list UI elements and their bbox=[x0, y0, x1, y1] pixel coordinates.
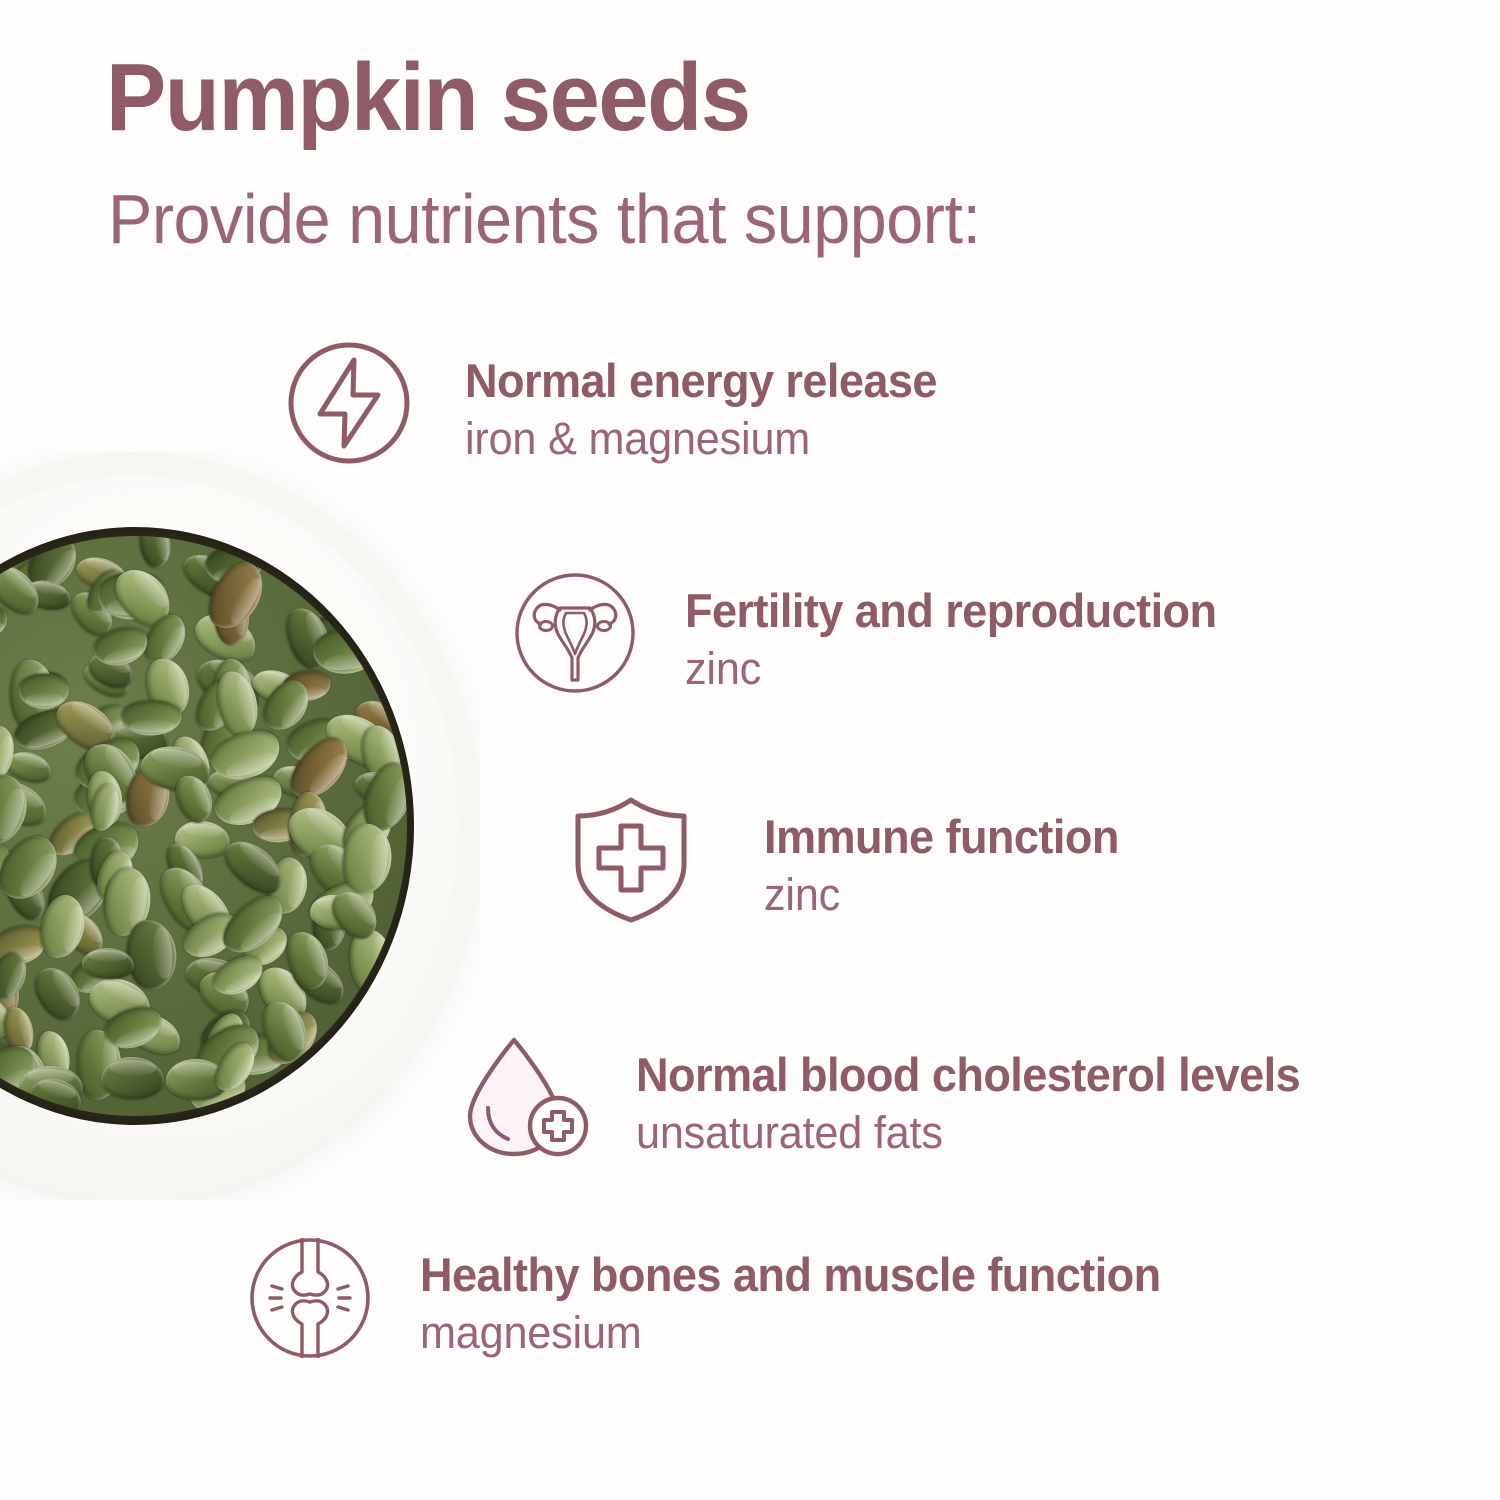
benefit-heading: Fertility and reproduction bbox=[685, 586, 1217, 636]
benefit-nutrient: iron & magnesium bbox=[465, 415, 937, 463]
bowl-outer bbox=[0, 452, 480, 1200]
shield-cross-icon bbox=[568, 792, 694, 926]
bone-joint-circle-icon bbox=[244, 1232, 376, 1364]
benefit-text-energy: Normal energy release iron & magnesium bbox=[465, 356, 957, 463]
benefit-text-immune: Immune function zinc bbox=[764, 812, 1134, 919]
benefit-heading: Normal energy release bbox=[465, 356, 937, 406]
benefit-text-fertility: Fertility and reproduction zinc bbox=[685, 586, 1239, 693]
pumpkin-seeds-photo bbox=[0, 452, 480, 1200]
pumpkin-seed bbox=[124, 918, 179, 992]
benefit-heading: Normal blood cholesterol levels bbox=[636, 1050, 1300, 1100]
page-subtitle: Provide nutrients that support: bbox=[108, 181, 980, 258]
page-title: Pumpkin seeds bbox=[106, 46, 750, 150]
benefit-nutrient: zinc bbox=[685, 645, 1217, 693]
uterus-circle-icon bbox=[510, 568, 640, 698]
benefit-text-cholesterol: Normal blood cholesterol levels unsatura… bbox=[636, 1050, 1328, 1157]
pumpkin-seed bbox=[121, 700, 182, 735]
lightning-bolt-circle-icon bbox=[284, 338, 414, 468]
benefit-heading: Healthy bones and muscle function bbox=[420, 1250, 1161, 1300]
benefit-nutrient: magnesium bbox=[420, 1309, 1161, 1357]
benefit-nutrient: zinc bbox=[764, 871, 1119, 919]
infographic-canvas: Pumpkin seeds Provide nutrients that sup… bbox=[0, 0, 1500, 1500]
benefit-heading: Immune function bbox=[764, 812, 1119, 862]
pumpkin-seed bbox=[100, 1056, 165, 1100]
pumpkin-seed bbox=[136, 536, 173, 571]
benefit-nutrient: unsaturated fats bbox=[636, 1109, 1300, 1157]
benefit-text-bones: Healthy bones and muscle function magnes… bbox=[420, 1250, 1192, 1357]
blood-droplet-plus-icon bbox=[458, 1032, 592, 1166]
